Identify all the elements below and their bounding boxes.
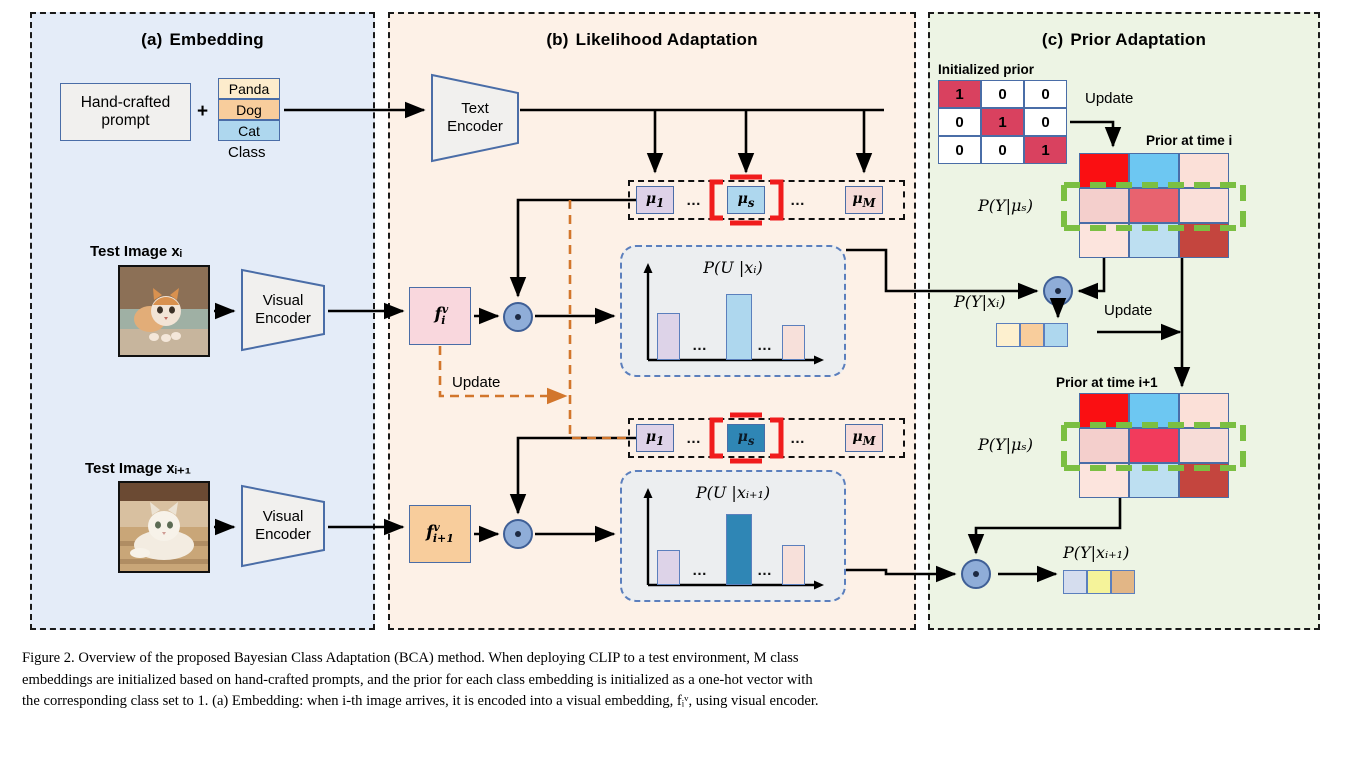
mu-1-top: μ1: [636, 186, 674, 214]
likelihood-chart-top: P(U |xᵢ) … …: [620, 245, 846, 377]
plus-sign: +: [197, 101, 208, 123]
mu-1-symbol: μ: [646, 191, 656, 207]
mu-s-top: μs: [727, 186, 765, 214]
init-prior-cell-2-2: 1: [1024, 136, 1067, 164]
text-encoder-line1: Text: [461, 100, 489, 118]
test-image-2-thumbnail: [118, 481, 210, 573]
visual-encoder-1-line2: Encoder: [255, 310, 311, 328]
dot-product-operator-top: [503, 302, 533, 332]
mu-ellipsis-bottom-left: …: [686, 430, 702, 447]
mu-m-symbol: μ: [852, 191, 862, 207]
test-image-2-label: Test Image xᵢ₊₁: [85, 459, 191, 477]
likelihood-bar-s: [726, 294, 752, 360]
prior-i-cell-2-1: [1129, 223, 1179, 258]
prior-matrix-time-i: [1079, 153, 1229, 258]
initialized-prior-label: Initialized prior: [938, 62, 1034, 77]
caption-line-3: the corresponding class set to 1. (a) Em…: [22, 691, 1330, 713]
panel-a-tag: (a): [141, 30, 162, 49]
mu-1-symbol-b: μ: [646, 429, 656, 445]
prior-i-cell-0-1: [1129, 153, 1179, 188]
likelihood-bottom-bar-1: [657, 550, 680, 585]
panel-c-tag: (c): [1042, 30, 1063, 49]
hand-crafted-prompt-box: Hand-crafted prompt: [60, 83, 191, 141]
panel-b-title: (b)Likelihood Adaptation: [390, 30, 914, 50]
panel-a-label: Embedding: [170, 30, 264, 49]
init-prior-cell-0-1: 0: [981, 80, 1024, 108]
p-y-xi1-cell-2: [1111, 570, 1135, 594]
mu-s-symbol: μ: [738, 191, 748, 207]
mu-m-top: μM: [845, 186, 883, 214]
likelihood-chart-bottom: P(U |xᵢ₊₁) … …: [620, 470, 846, 602]
prompt-line-1: Hand-crafted: [81, 94, 171, 112]
mu-m-index: M: [863, 195, 876, 209]
prior-i1-cell-1-2: [1179, 428, 1229, 463]
init-prior-cell-1-2: 0: [1024, 108, 1067, 136]
mu-s-bottom: μs: [727, 424, 765, 452]
prior-i-cell-0-2: [1179, 153, 1229, 188]
mu-s-index: s: [748, 195, 755, 209]
likelihood-chart-top-ellipsis-1: …: [692, 337, 708, 354]
prior-i-cell-0-0: [1079, 153, 1129, 188]
panel-c-title: (c)Prior Adaptation: [930, 30, 1318, 50]
init-prior-cell-0-0: 1: [938, 80, 981, 108]
p-y-xi1-cell-1: [1087, 570, 1111, 594]
panel-a-title: (a)Embedding: [32, 30, 373, 50]
p-y-given-xi-vector: [996, 323, 1068, 347]
p-y-xi-cell-1: [1020, 323, 1044, 347]
prior-i-cell-1-1: [1129, 188, 1179, 223]
init-prior-cell-2-0: 0: [938, 136, 981, 164]
p-y-xi1-cell-0: [1063, 570, 1087, 594]
prior-time-i-label: Prior at time i: [1146, 133, 1232, 148]
prior-i1-cell-2-2: [1179, 463, 1229, 498]
likelihood-bar-1: [657, 313, 680, 360]
init-prior-cell-2-1: 0: [981, 136, 1024, 164]
mu-m-bottom: μM: [845, 424, 883, 452]
prior-matrix-time-i1: [1079, 393, 1229, 498]
p-y-given-mu-label-i: P(Y|μₛ): [978, 196, 1033, 215]
prior-i1-cell-0-0: [1079, 393, 1129, 428]
mu-s-index-b: s: [748, 433, 755, 447]
visual-encoder-1-line1: Visual: [263, 292, 304, 310]
p-y-given-xi1-label: P(Y|xᵢ₊₁): [1063, 543, 1129, 562]
class-item-dog: Dog: [218, 99, 280, 120]
prior-i1-cell-2-0: [1079, 463, 1129, 498]
mu-ellipsis-bottom-right: …: [790, 430, 806, 447]
p-y-given-xi1-vector: [1063, 570, 1135, 594]
likelihood-chart-bottom-ellipsis-1: …: [692, 562, 708, 579]
dot-product-operator-prior-bottom: [961, 559, 991, 589]
text-encoder: Text Encoder: [430, 73, 520, 163]
mu-1-bottom: μ1: [636, 424, 674, 452]
figure-caption: Figure 2. Overview of the proposed Bayes…: [22, 648, 1330, 713]
class-label-panda: Panda: [229, 81, 269, 97]
prior-i-cell-1-0: [1079, 188, 1129, 223]
test-image-1-thumbnail: [118, 265, 210, 357]
panel-b-tag: (b): [546, 30, 568, 49]
likelihood-chart-bottom-ellipsis-2: …: [757, 562, 773, 579]
visual-feature-i1-box: fvi+1: [409, 505, 471, 563]
mu-1-index-b: 1: [656, 433, 664, 447]
prior-i1-cell-0-1: [1129, 393, 1179, 428]
p-y-given-mu-label-i1: P(Y|μₛ): [978, 435, 1033, 454]
panel-c-label: Prior Adaptation: [1070, 30, 1206, 49]
likelihood-chart-top-ellipsis-2: …: [757, 337, 773, 354]
feature-i1-sub: i+1: [433, 532, 454, 545]
prior-i1-cell-0-2: [1179, 393, 1229, 428]
init-prior-cell-1-0: 0: [938, 108, 981, 136]
class-caption: Class: [228, 144, 266, 161]
init-prior-cell-0-2: 0: [1024, 80, 1067, 108]
visual-encoder-2-line2: Encoder: [255, 526, 311, 544]
class-label-cat: Cat: [238, 123, 260, 139]
p-y-given-xi-label: P(Y|xᵢ): [954, 292, 1005, 311]
dot-product-operator-bottom: [503, 519, 533, 549]
mu-ellipsis-top-left: …: [686, 192, 702, 209]
visual-encoder-2-line1: Visual: [263, 508, 304, 526]
prior-i-cell-1-2: [1179, 188, 1229, 223]
init-prior-cell-1-1: 1: [981, 108, 1024, 136]
prior-i1-cell-1-1: [1129, 428, 1179, 463]
caption-line-2: embeddings are initialized based on hand…: [22, 670, 1330, 692]
mu-ellipsis-top-right: …: [790, 192, 806, 209]
prior-time-i1-label: Prior at time i+1: [1056, 375, 1158, 390]
panel-b-label: Likelihood Adaptation: [576, 30, 758, 49]
class-item-cat: Cat: [218, 120, 280, 141]
prompt-line-2: prompt: [81, 112, 171, 130]
update-label-likelihood: Update: [452, 374, 500, 391]
update-label-prior-2: Update: [1104, 302, 1152, 319]
visual-feature-i-box: fvi: [409, 287, 471, 345]
mu-s-symbol-b: μ: [738, 429, 748, 445]
p-y-xi-cell-0: [996, 323, 1020, 347]
text-encoder-line2: Encoder: [447, 118, 503, 136]
prior-i-cell-2-0: [1079, 223, 1129, 258]
likelihood-bar-m: [782, 325, 805, 360]
dot-product-operator-prior-top: [1043, 276, 1073, 306]
visual-encoder-2: Visual Encoder: [240, 484, 326, 568]
caption-line-1: Figure 2. Overview of the proposed Bayes…: [22, 648, 1330, 670]
likelihood-bottom-bar-m: [782, 545, 805, 585]
update-label-prior-1: Update: [1085, 90, 1133, 107]
mu-m-index-b: M: [863, 433, 876, 447]
prior-i1-cell-1-0: [1079, 428, 1129, 463]
class-item-panda: Panda: [218, 78, 280, 99]
prior-i1-cell-2-1: [1129, 463, 1179, 498]
test-image-1-label: Test Image xᵢ: [90, 243, 182, 260]
p-y-xi-cell-2: [1044, 323, 1068, 347]
mu-1-index: 1: [656, 195, 664, 209]
prior-i-cell-2-2: [1179, 223, 1229, 258]
feature-i-sub: i: [441, 314, 445, 327]
initialized-prior-matrix: 1 0 0 0 1 0 0 0 1: [938, 80, 1067, 164]
likelihood-bottom-bar-s: [726, 514, 752, 585]
class-label-dog: Dog: [236, 102, 262, 118]
mu-m-symbol-b: μ: [852, 429, 862, 445]
visual-encoder-1: Visual Encoder: [240, 268, 326, 352]
